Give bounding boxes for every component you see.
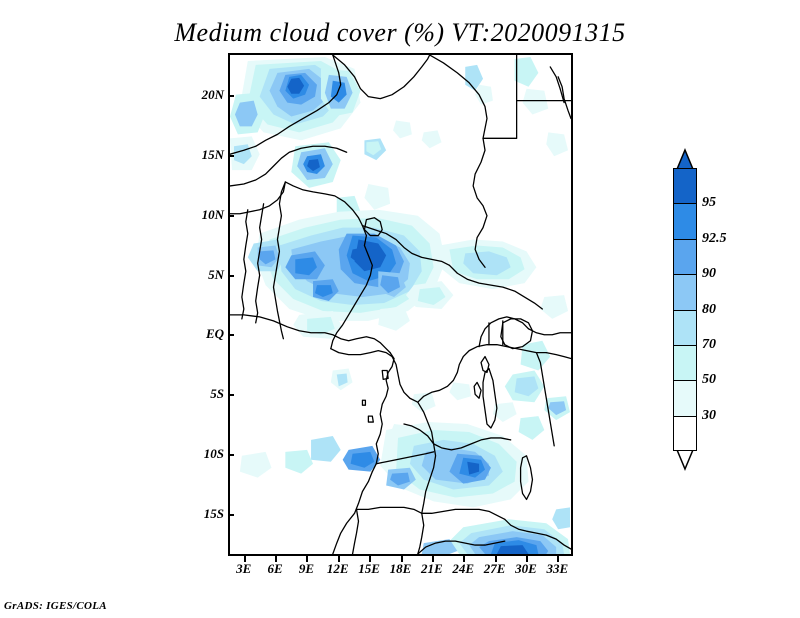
grads-credit: GrADS: IGES/COLA bbox=[4, 600, 107, 612]
lon-tick-33E bbox=[557, 556, 559, 562]
colorbar-band-90-92.5 bbox=[673, 239, 697, 274]
lat-tick-15N bbox=[228, 155, 234, 157]
lat-tick-10S bbox=[228, 454, 234, 456]
colorbar-label-95: 95 bbox=[702, 195, 716, 211]
lon-tick-30E bbox=[526, 556, 528, 562]
lon-tick-label-27E: 27E bbox=[484, 561, 506, 577]
colorbar-label-30: 30 bbox=[702, 408, 716, 424]
lat-tick-label-5S: 5S bbox=[210, 386, 224, 402]
lon-tick-label-15E: 15E bbox=[358, 561, 380, 577]
lon-tick-label-33E: 33E bbox=[546, 561, 568, 577]
lon-tick-label-12E: 12E bbox=[327, 561, 349, 577]
latitude-axis: 20N15N10N5NEQ5S10S15S bbox=[190, 53, 224, 556]
lat-tick-5N bbox=[228, 275, 234, 277]
lon-tick-label-30E: 30E bbox=[515, 561, 537, 577]
lon-tick-24E bbox=[463, 556, 465, 562]
lon-tick-27E bbox=[495, 556, 497, 562]
lat-tick-10N bbox=[228, 215, 234, 217]
colorbar-band-70-80 bbox=[673, 310, 697, 345]
map-canvas bbox=[230, 55, 571, 554]
colorbar-band-92.5-95 bbox=[673, 203, 697, 238]
lat-tick-label-10S: 10S bbox=[204, 446, 224, 462]
lat-tick-label-15N: 15N bbox=[202, 147, 224, 163]
colorbar-band-30-50 bbox=[673, 380, 697, 415]
lon-tick-label-24E: 24E bbox=[452, 561, 474, 577]
lon-tick-12E bbox=[338, 556, 340, 562]
lon-tick-18E bbox=[401, 556, 403, 562]
lon-tick-label-9E: 9E bbox=[299, 561, 314, 577]
lon-tick-label-21E: 21E bbox=[421, 561, 443, 577]
lat-tick-label-5N: 5N bbox=[208, 267, 224, 283]
colorbar-label-70: 70 bbox=[702, 337, 716, 353]
colorbar-label-50: 50 bbox=[702, 372, 716, 388]
colorbar-band-above-95 bbox=[673, 168, 697, 203]
lat-tick-EQ bbox=[228, 334, 234, 336]
map-plot-area bbox=[228, 53, 573, 556]
lon-tick-label-3E: 3E bbox=[236, 561, 251, 577]
lon-tick-3E bbox=[244, 556, 246, 562]
lat-tick-20N bbox=[228, 95, 234, 97]
lat-tick-label-15S: 15S bbox=[204, 506, 224, 522]
lon-tick-21E bbox=[432, 556, 434, 562]
lat-tick-label-10N: 10N bbox=[202, 207, 224, 223]
page-title: Medium cloud cover (%) VT:2020091315 bbox=[0, 18, 800, 48]
lon-tick-15E bbox=[369, 556, 371, 562]
colorbar bbox=[673, 168, 697, 451]
colorbar-band-50-70 bbox=[673, 345, 697, 380]
lon-tick-9E bbox=[306, 556, 308, 562]
lon-tick-label-6E: 6E bbox=[267, 561, 282, 577]
lat-tick-label-EQ: EQ bbox=[206, 326, 224, 342]
colorbar-label-80: 80 bbox=[702, 302, 716, 318]
lat-tick-label-20N: 20N bbox=[202, 87, 224, 103]
colorbar-band-80-90 bbox=[673, 274, 697, 309]
lon-tick-label-18E: 18E bbox=[390, 561, 412, 577]
lat-tick-5S bbox=[228, 394, 234, 396]
colorbar-label-90: 90 bbox=[702, 266, 716, 282]
lon-tick-6E bbox=[275, 556, 277, 562]
colorbar-label-92.5: 92.5 bbox=[702, 231, 727, 247]
longitude-axis: 3E6E9E12E15E18E21E24E27E30E33E bbox=[0, 561, 800, 581]
colorbar-band-below-30 bbox=[673, 416, 697, 451]
lat-tick-15S bbox=[228, 514, 234, 516]
